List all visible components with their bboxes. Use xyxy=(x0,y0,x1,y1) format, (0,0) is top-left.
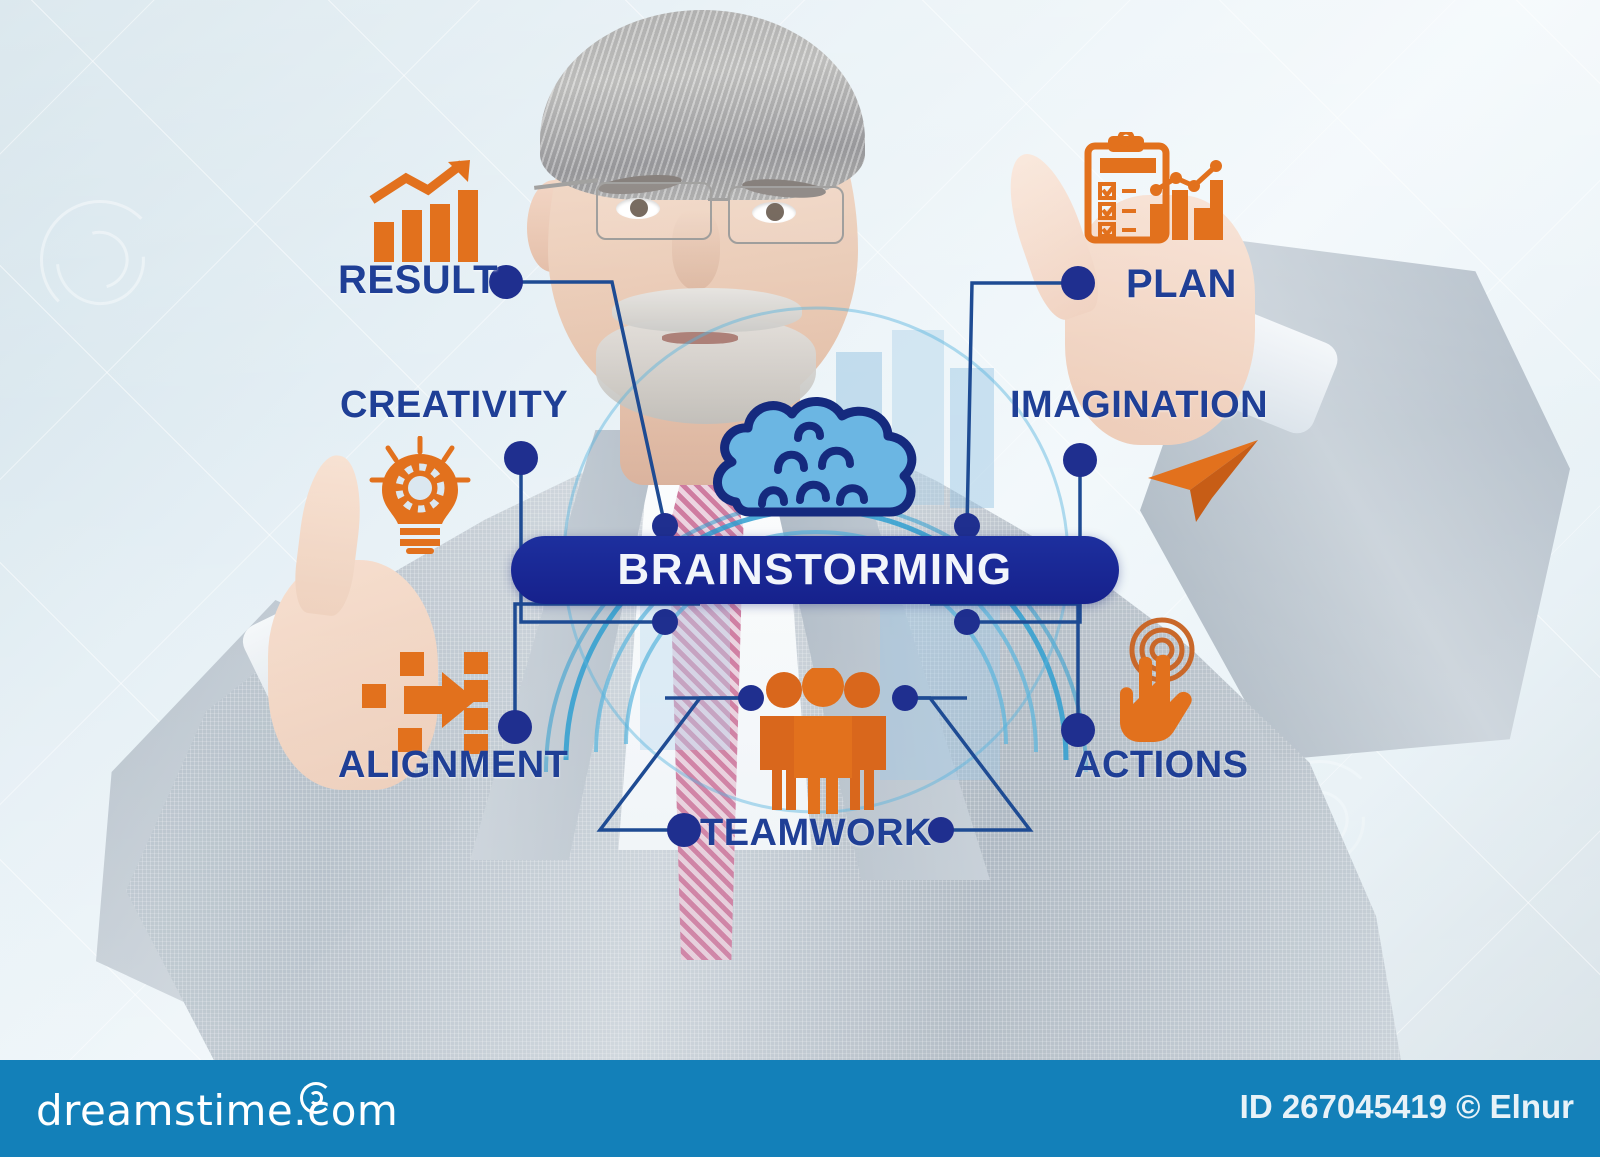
node-label-teamwork[interactable]: TEAMWORK xyxy=(700,812,932,855)
node-label-creativity[interactable]: CREATIVITY xyxy=(340,384,568,427)
hand-tap-icon xyxy=(1112,616,1230,744)
node-label-imagination[interactable]: IMAGINATION xyxy=(1010,384,1268,427)
image-credit: ID 267045419 © Elnur xyxy=(1240,1088,1574,1126)
brain-icon xyxy=(706,382,934,542)
node-label-alignment[interactable]: ALIGNMENT xyxy=(338,744,568,787)
lightbulb-gear-icon xyxy=(368,436,472,554)
node-label-plan[interactable]: PLAN xyxy=(1126,262,1237,307)
clipboard-chart-icon xyxy=(1078,132,1223,252)
spiral-logo-icon xyxy=(300,1082,332,1114)
arrow-squares-icon xyxy=(360,650,496,756)
bar-chart-growth-icon xyxy=(366,160,486,268)
node-label-result[interactable]: RESULT xyxy=(338,258,498,303)
three-people-icon xyxy=(756,668,890,814)
watermark-footer-bar: dreamstime.com ID 267045419 © Elnur xyxy=(0,1060,1600,1157)
center-brainstorming-pill[interactable]: BRAINSTORMING xyxy=(511,536,1119,604)
center-pill-label: BRAINSTORMING xyxy=(617,545,1012,595)
dreamstime-logo-text[interactable]: dreamstime.com xyxy=(36,1086,398,1135)
screenshot-root: RESULT PLAN CREATIVITY IMAGINATION ALIGN… xyxy=(0,0,1600,1157)
node-label-actions[interactable]: ACTIONS xyxy=(1074,744,1249,787)
paper-plane-icon xyxy=(1144,438,1260,524)
concept-diagram: RESULT PLAN CREATIVITY IMAGINATION ALIGN… xyxy=(0,0,1600,1060)
